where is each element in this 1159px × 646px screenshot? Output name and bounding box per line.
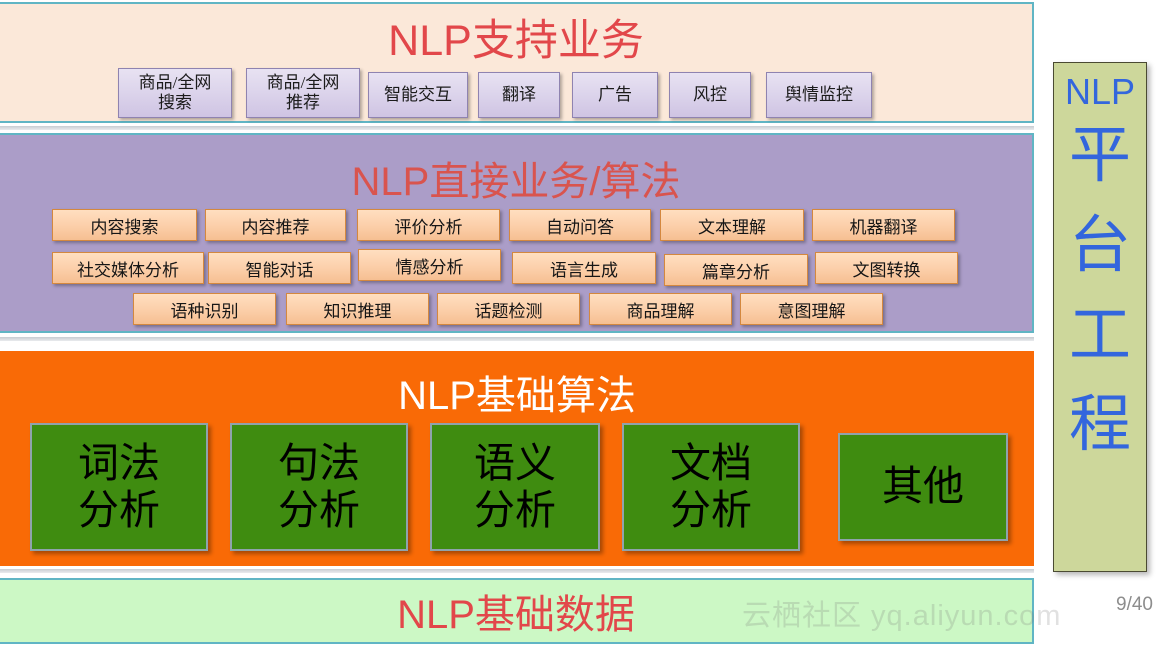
chip-text-understanding[interactable]: 文本理解 (660, 209, 804, 241)
pillar-char-ping: 平 (1069, 111, 1131, 201)
chip-label: 智能交互 (384, 85, 452, 105)
chip-text-to-image[interactable]: 文图转换 (815, 252, 958, 284)
chip-public-opinion-monitoring[interactable]: 舆情监控 (766, 72, 872, 118)
section-title-basic: NLP基础算法 (0, 363, 1034, 421)
pillar-char-gong: 工 (1069, 291, 1131, 381)
block-syntactic-analysis[interactable]: 句法 分析 (230, 423, 408, 551)
chip-knowledge-reasoning[interactable]: 知识推理 (286, 293, 429, 325)
chip-review-analysis[interactable]: 评价分析 (357, 209, 500, 241)
pillar-char-cheng: 程 (1069, 380, 1131, 470)
chip-risk-control[interactable]: 风控 (669, 72, 751, 118)
chip-language-identification[interactable]: 语种识别 (133, 293, 276, 325)
block-label-line1: 文档 (670, 440, 752, 487)
band-divider-2 (0, 337, 1034, 341)
chip-product-global-recommend[interactable]: 商品/全网 推荐 (246, 68, 360, 118)
block-label-line2: 分析 (78, 487, 160, 534)
page-number: 9/40 (1116, 594, 1153, 616)
slide-canvas: NLP支持业务 商品/全网 搜索 商品/全网 推荐 智能交互 翻译 广告 风控 (0, 0, 1159, 646)
section-nlp-support-business: NLP支持业务 商品/全网 搜索 商品/全网 推荐 智能交互 翻译 广告 风控 (0, 2, 1034, 123)
chip-label: 智能对话 (246, 256, 314, 281)
pillar-char-tai: 台 (1069, 201, 1131, 291)
section-title-direct: NLP直接业务/算法 (0, 149, 1032, 207)
chip-label: 商品/全网 搜索 (139, 73, 212, 112)
chip-advertising[interactable]: 广告 (572, 72, 658, 118)
chip-smart-interaction[interactable]: 智能交互 (368, 72, 468, 118)
watermark-yunqi-community: 云栖社区 yq.aliyun.com (742, 592, 1061, 634)
chip-label: 机器翻译 (850, 213, 918, 238)
chip-label: 商品/全网 推荐 (267, 73, 340, 112)
chip-label: 语种识别 (171, 297, 239, 322)
chip-label: 社交媒体分析 (77, 256, 179, 281)
chip-machine-translation[interactable]: 机器翻译 (812, 209, 955, 241)
pillar-nlp-label: NLP (1065, 73, 1135, 111)
chip-label: 情感分析 (396, 253, 464, 278)
chip-label: 内容搜索 (91, 213, 159, 238)
chip-label: 商品理解 (627, 297, 695, 322)
band-divider-1 (0, 126, 1034, 130)
block-label-line1: 语义 (474, 440, 556, 487)
chip-label: 自动问答 (546, 213, 614, 238)
section-title-support: NLP支持业务 (0, 6, 1032, 68)
chip-label: 篇章分析 (702, 258, 770, 283)
block-lexical-analysis[interactable]: 词法 分析 (30, 423, 208, 551)
chip-label: 话题检测 (475, 297, 543, 322)
chip-product-understanding[interactable]: 商品理解 (589, 293, 732, 325)
section-nlp-basic-algorithms: NLP基础算法 词法 分析 句法 分析 语义 分析 文档 分析 其他 (0, 351, 1034, 566)
chip-label: 文本理解 (698, 213, 766, 238)
chip-product-global-search[interactable]: 商品/全网 搜索 (118, 68, 232, 118)
chip-topic-detection[interactable]: 话题检测 (437, 293, 580, 325)
chip-automatic-qa[interactable]: 自动问答 (509, 209, 651, 241)
block-label-line1: 词法 (78, 440, 160, 487)
chip-label: 广告 (598, 85, 632, 105)
chip-label: 知识推理 (324, 297, 392, 322)
chip-discourse-analysis[interactable]: 篇章分析 (664, 254, 808, 286)
chip-intent-understanding[interactable]: 意图理解 (740, 293, 883, 325)
chip-label: 舆情监控 (785, 85, 853, 105)
chip-content-recommendation[interactable]: 内容推荐 (205, 209, 346, 241)
chip-label: 风控 (693, 85, 727, 105)
block-label-line1: 句法 (278, 440, 360, 487)
chip-label: 翻译 (502, 85, 536, 105)
chip-language-generation[interactable]: 语言生成 (512, 252, 656, 284)
block-semantic-analysis[interactable]: 语义 分析 (430, 423, 600, 551)
band-divider-3 (0, 569, 1034, 573)
block-other[interactable]: 其他 (838, 433, 1008, 541)
section-nlp-direct-business: NLP直接业务/算法 内容搜索 内容推荐 评价分析 自动问答 文本理解 机器翻译… (0, 133, 1034, 333)
chip-label: 文图转换 (853, 256, 921, 281)
chip-sentiment-analysis[interactable]: 情感分析 (358, 249, 501, 281)
chip-label: 意图理解 (778, 297, 846, 322)
block-label-line2: 分析 (670, 487, 752, 534)
pillar-nlp-platform-engineering[interactable]: NLP 平 台 工 程 (1053, 62, 1147, 572)
block-label-line2: 分析 (278, 487, 360, 534)
chip-intelligent-dialogue[interactable]: 智能对话 (208, 252, 351, 284)
chip-label: 内容推荐 (242, 213, 310, 238)
block-label-line2: 分析 (474, 487, 556, 534)
chip-label: 评价分析 (395, 213, 463, 238)
chip-translation[interactable]: 翻译 (478, 72, 560, 118)
chip-label: 语言生成 (550, 256, 618, 281)
chip-content-search[interactable]: 内容搜索 (52, 209, 197, 241)
chip-social-media-analysis[interactable]: 社交媒体分析 (52, 252, 204, 284)
block-document-analysis[interactable]: 文档 分析 (622, 423, 800, 551)
block-label-line1: 其他 (882, 463, 964, 510)
